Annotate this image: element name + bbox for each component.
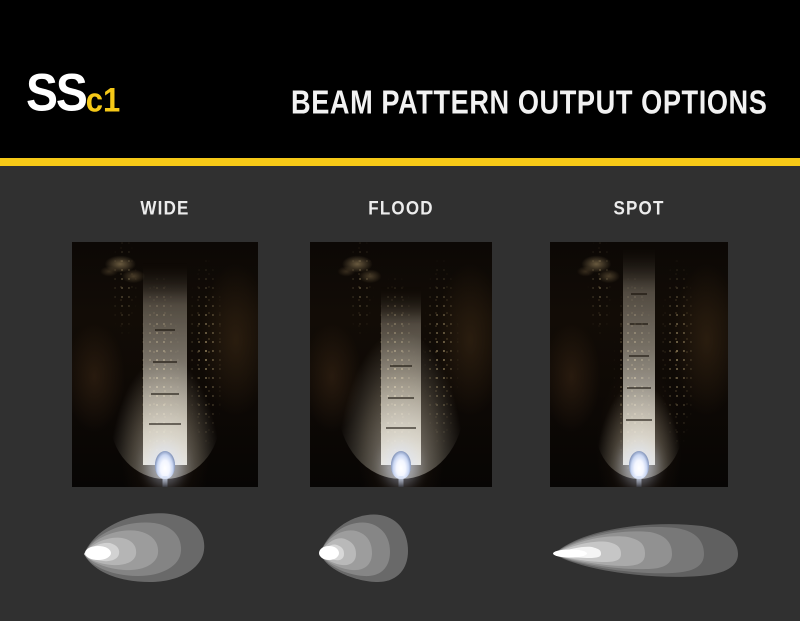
vehicle-lamp xyxy=(155,451,175,479)
beam-pattern-diagram-flood xyxy=(302,498,512,588)
beam-pattern-infographic: { "header": { "logo_primary": "SS", "log… xyxy=(0,0,800,621)
beam-pattern-diagram-wide xyxy=(64,498,274,588)
beam-pattern-diagram-spot xyxy=(542,498,752,588)
beam-label-flood: FLOOD xyxy=(310,197,492,220)
beam-photo-spot xyxy=(550,242,728,487)
vehicle-lamp xyxy=(391,451,411,479)
beam-comparison-stage: WIDE xyxy=(0,166,800,621)
vehicle-lamp-stem xyxy=(399,476,404,487)
beam-photo-wide xyxy=(72,242,258,487)
photo-road-corridor xyxy=(310,242,492,487)
header-bar: SS c1 BEAM PATTERN OUTPUT OPTIONS xyxy=(0,0,800,158)
beam-label-wide: WIDE xyxy=(72,197,258,220)
page-title: BEAM PATTERN OUTPUT OPTIONS xyxy=(291,84,767,122)
brand-logo-suffix: c1 xyxy=(86,86,120,114)
brand-logo-primary: SS xyxy=(26,71,86,114)
beam-photo-flood xyxy=(310,242,492,487)
accent-divider xyxy=(0,158,800,166)
vehicle-lamp xyxy=(629,451,649,479)
brand-logo: SS c1 xyxy=(26,76,120,115)
photo-road-corridor xyxy=(72,242,258,487)
vehicle-lamp-stem xyxy=(163,476,168,487)
beam-label-spot: SPOT xyxy=(550,197,728,220)
photo-road-corridor xyxy=(550,242,728,487)
vehicle-lamp-stem xyxy=(637,476,642,487)
